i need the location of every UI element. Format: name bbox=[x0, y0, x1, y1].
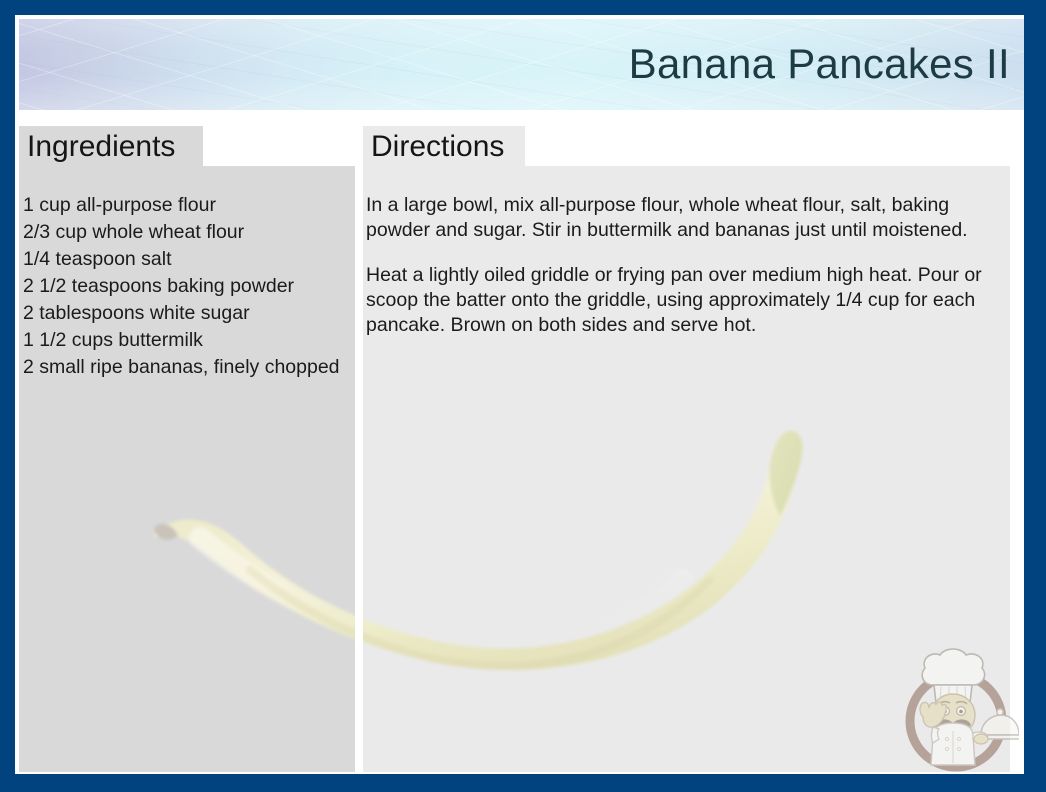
ingredients-heading-tab: Ingredients bbox=[19, 126, 203, 168]
panel-divider bbox=[355, 126, 363, 772]
border-bottom bbox=[0, 774, 1046, 792]
header-banner: Banana Pancakes II bbox=[19, 19, 1024, 110]
ingredients-list: 1 cup all-purpose flour 2/3 cup whole wh… bbox=[23, 192, 345, 381]
list-item: 2/3 cup whole wheat flour bbox=[23, 219, 345, 246]
border-top bbox=[0, 0, 1046, 15]
chef-mascot-logo bbox=[893, 643, 1019, 773]
directions-heading-tab: Directions bbox=[363, 126, 525, 168]
border-right bbox=[1024, 0, 1046, 792]
list-item: 2 tablespoons white sugar bbox=[23, 300, 345, 327]
directions-text: In a large bowl, mix all-purpose flour, … bbox=[366, 193, 1016, 338]
list-item: 1 cup all-purpose flour bbox=[23, 192, 345, 219]
recipe-slide: Banana Pancakes II Ingredients 1 cup all… bbox=[0, 0, 1046, 792]
directions-paragraph: Heat a lightly oiled griddle or frying p… bbox=[366, 263, 1016, 338]
list-item: 1 1/2 cups buttermilk bbox=[23, 327, 345, 354]
border-left bbox=[0, 0, 15, 792]
list-item: 2 small ripe bananas, finely chopped bbox=[23, 354, 345, 381]
page-title: Banana Pancakes II bbox=[629, 43, 1010, 85]
directions-paragraph: In a large bowl, mix all-purpose flour, … bbox=[366, 193, 1016, 243]
directions-heading-label: Directions bbox=[371, 128, 504, 166]
list-item: 2 1/2 teaspoons baking powder bbox=[23, 273, 345, 300]
list-item: 1/4 teaspoon salt bbox=[23, 246, 345, 273]
ingredients-heading-label: Ingredients bbox=[27, 128, 175, 166]
